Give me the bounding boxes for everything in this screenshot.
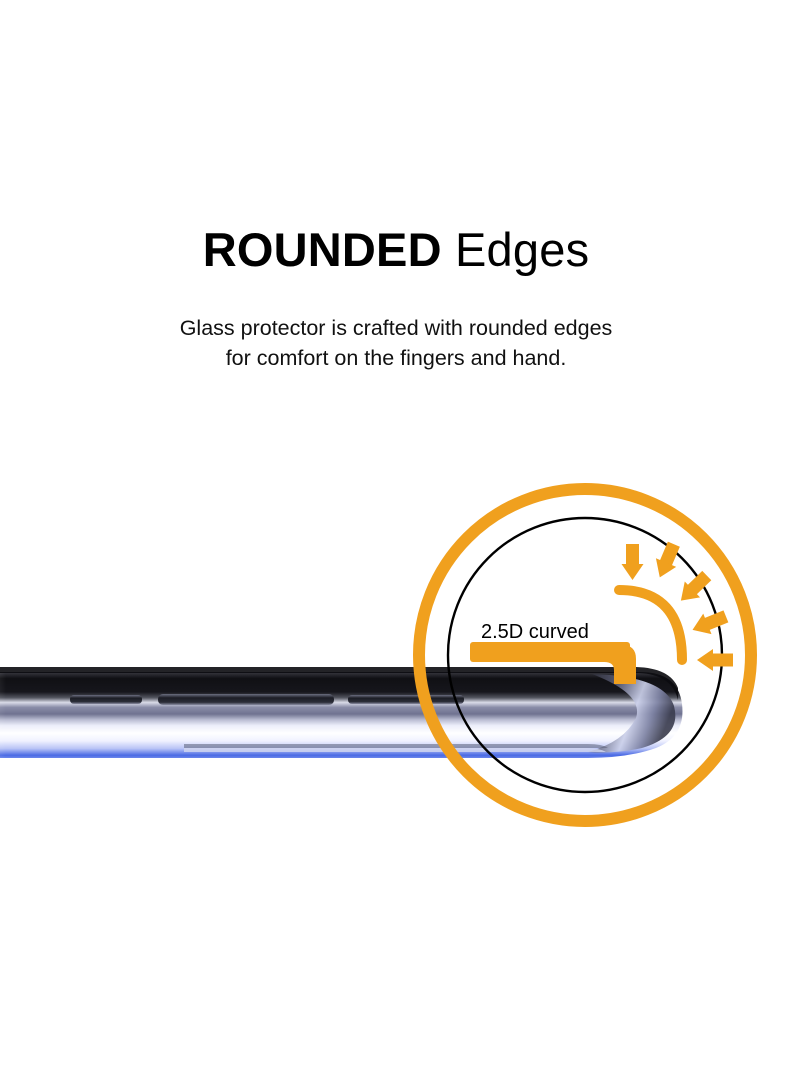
down-arrow-icon-1 <box>622 544 644 580</box>
volume-down-button[interactable] <box>158 694 334 705</box>
headline-strong: ROUNDED <box>203 223 442 276</box>
headline-light-text: Edges <box>455 223 589 276</box>
volume-up-button[interactable] <box>70 695 142 704</box>
product-feature-slide: ROUNDED Edges Glass protector is crafted… <box>0 0 792 1080</box>
headline-light <box>442 223 455 276</box>
subheading: Glass protector is crafted with rounded … <box>0 313 792 373</box>
subheading-line-2: for comfort on the fingers and hand. <box>0 343 792 373</box>
down-arrow-icon-4 <box>688 606 730 640</box>
detail-callout-label: 2.5D curved <box>481 620 589 644</box>
page-title: ROUNDED Edges <box>0 222 792 278</box>
down-arrow-icon-5 <box>697 649 733 671</box>
down-arrow-icon-3 <box>673 568 714 609</box>
subheading-line-1: Glass protector is crafted with rounded … <box>0 313 792 343</box>
magnifier-callout <box>400 470 780 845</box>
down-arrow-icon-2 <box>650 540 684 582</box>
headline: ROUNDED Edges <box>0 222 792 278</box>
